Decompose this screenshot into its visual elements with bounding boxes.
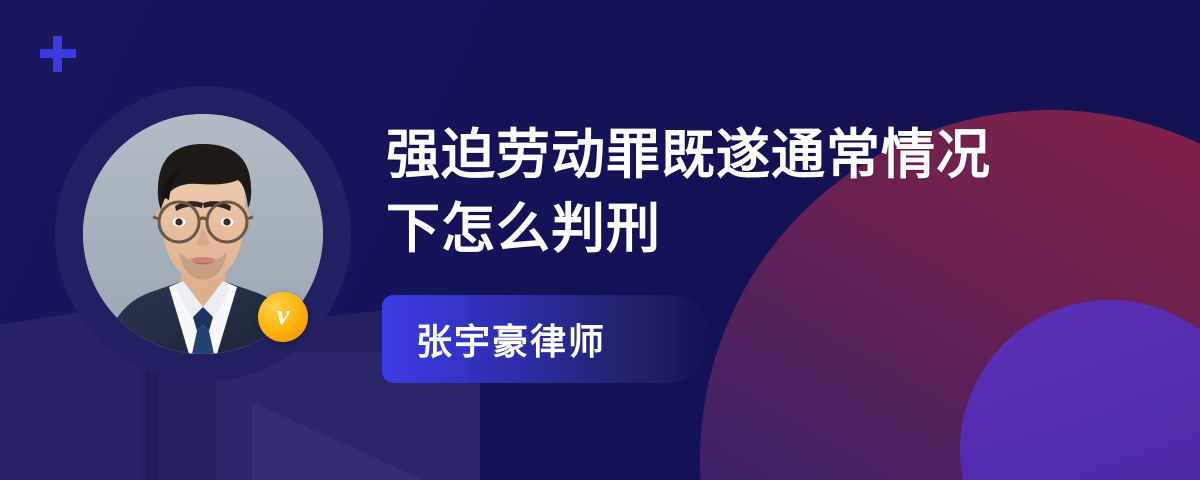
plus-icon <box>40 36 76 72</box>
verified-badge-label: v <box>277 302 289 330</box>
headline-block: 强迫劳动罪既遂通常情况 下怎么判刑 <box>386 118 1086 266</box>
lawyer-question-banner: v 强迫劳动罪既遂通常情况 下怎么判刑 张宇豪律师 <box>0 0 1200 480</box>
avatar: v <box>55 86 351 382</box>
verified-badge-icon: v <box>258 292 308 342</box>
page-title: 强迫劳动罪既遂通常情况 下怎么判刑 <box>386 118 1086 266</box>
author-name-label: 张宇豪律师 <box>382 313 606 365</box>
author-name-pill[interactable]: 张宇豪律师 <box>382 295 712 383</box>
